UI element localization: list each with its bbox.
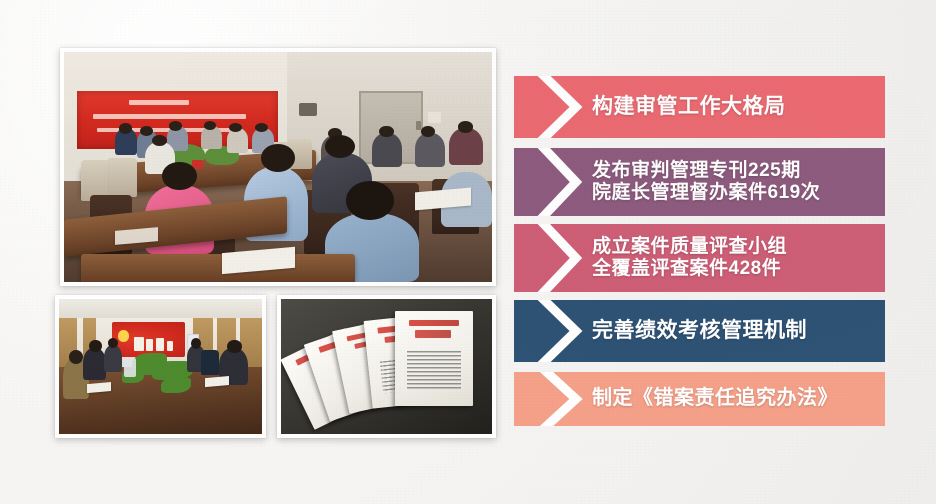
- chevron-right-icon: [536, 148, 588, 216]
- documents-photo: [277, 295, 496, 438]
- small-meeting-photo: [55, 295, 266, 438]
- banner-item-3[interactable]: 成立案件质量评查小组 全覆盖评查案件428件: [514, 224, 885, 292]
- banner-label-1: 构建审管工作大格局: [592, 95, 786, 120]
- banner-label-5: 制定《错案责任追究办法》: [592, 387, 838, 411]
- conference-meeting-photo: [60, 48, 496, 286]
- party-culture-wall: [112, 322, 185, 357]
- banner-item-5[interactable]: 制定《错案责任追究办法》: [514, 372, 885, 426]
- banner-label-3: 成立案件质量评查小组 全覆盖评查案件428件: [592, 236, 787, 281]
- chevron-right-icon: [536, 300, 588, 362]
- banner-item-2[interactable]: 发布审判管理专刊225期 院庭长管理督办案件619次: [514, 148, 885, 216]
- banner-item-1[interactable]: 构建审管工作大格局: [514, 76, 885, 138]
- chevron-right-icon: [536, 224, 588, 292]
- achievement-banner-list: 构建审管工作大格局 发布审判管理专刊225期 院庭长管理督办案件619次 成立案…: [514, 76, 885, 426]
- banner-label-4: 完善绩效考核管理机制: [592, 319, 807, 344]
- banner-item-4[interactable]: 完善绩效考核管理机制: [514, 300, 885, 362]
- slide-canvas: 构建审管工作大格局 发布审判管理专刊225期 院庭长管理督办案件619次 成立案…: [0, 0, 936, 504]
- chevron-right-icon: [536, 372, 588, 426]
- chevron-right-icon: [536, 76, 588, 138]
- banner-label-2: 发布审判管理专刊225期 院庭长管理督办案件619次: [592, 160, 820, 205]
